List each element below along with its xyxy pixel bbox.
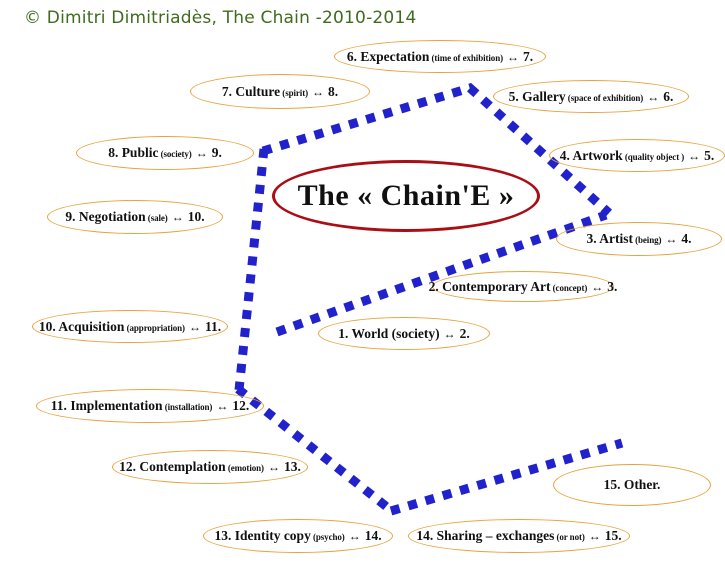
node-name: Artist <box>597 231 633 246</box>
node-name: Contemplation <box>136 459 226 474</box>
node-label: 7. Culture (spirit) ↔ 8. <box>222 85 338 99</box>
node-identity-copy[interactable]: 13. Identity copy (psycho) ↔ 14. <box>203 519 393 553</box>
node-index: 8. <box>108 145 118 160</box>
node-contemplation[interactable]: 12. Contemplation (emotion) ↔ 13. <box>112 450 308 484</box>
node-label: 5. Gallery (space of exhibition) ↔ 6. <box>509 90 674 104</box>
diagram-canvas: © Dimitri Dimitriadès, The Chain -2010-2… <box>0 0 725 576</box>
node-world[interactable]: 1. World (society) ↔ 2. <box>318 317 490 350</box>
node-label: 10. Acquisition (appropriation) ↔ 11. <box>39 320 221 334</box>
node-arrow-icon: ↔ <box>308 85 328 99</box>
node-name: Other. <box>620 477 660 492</box>
node-qualifier: (or not) <box>554 532 584 542</box>
node-gallery[interactable]: 5. Gallery (space of exhibition) ↔ 6. <box>493 80 689 113</box>
node-next-index: 14. <box>365 528 382 543</box>
node-name: Implementation <box>67 398 163 413</box>
node-index: 3. <box>586 231 596 246</box>
node-qualifier: (quality object ) <box>623 152 684 162</box>
node-name: Contemporary Art <box>439 279 551 294</box>
node-index: 12. <box>119 459 136 474</box>
node-next-index: 6. <box>663 89 673 104</box>
node-public[interactable]: 8. Public (society) ↔ 9. <box>76 136 254 170</box>
node-label: 6. Expectation (time of exhibition) ↔ 7. <box>347 50 533 64</box>
node-name: Sharing – exchanges <box>433 528 554 543</box>
node-name: Artwork <box>570 148 623 163</box>
node-arrow-icon: ↔ <box>264 460 284 474</box>
node-index: 13. <box>214 528 231 543</box>
node-label: 8. Public (society) ↔ 9. <box>108 146 222 160</box>
node-name: Acquisition <box>56 319 125 334</box>
node-label: 11. Implementation (installation) ↔ 12. <box>51 399 249 413</box>
node-acquisition[interactable]: 10. Acquisition (appropriation) ↔ 11. <box>32 310 228 343</box>
node-qualifier: (appropriation) <box>124 323 185 333</box>
node-qualifier: (time of exhibition) <box>429 53 503 63</box>
node-qualifier: (being) <box>633 235 661 245</box>
node-index: 1. <box>338 326 348 341</box>
node-arrow-icon: ↔ <box>643 90 663 104</box>
center-chain-ellipse: The « Chain'E » <box>272 160 540 232</box>
node-arrow-icon: ↔ <box>212 399 232 413</box>
node-next-index: 4. <box>681 231 691 246</box>
node-index: 14. <box>416 528 433 543</box>
node-arrow-icon: ↔ <box>440 327 460 341</box>
node-qualifier: (installation) <box>163 402 213 412</box>
node-label: 15. Other. <box>604 478 661 492</box>
node-name: World (society) <box>348 326 439 341</box>
node-qualifier: (society) <box>158 149 191 159</box>
chain-segment-left-edge <box>239 149 264 390</box>
node-arrow-icon: ↔ <box>185 320 205 334</box>
node-next-index: 11. <box>205 319 221 334</box>
node-index: 11. <box>51 398 67 413</box>
node-next-index: 13. <box>284 459 301 474</box>
node-name: Public <box>118 145 158 160</box>
node-name: Identity copy <box>231 528 311 543</box>
node-artist[interactable]: 3. Artist (being) ↔ 4. <box>556 222 722 256</box>
node-label: 4. Artwork (quality object ) ↔ 5. <box>560 149 715 163</box>
node-label: 3. Artist (being) ↔ 4. <box>586 232 691 246</box>
node-label: 14. Sharing – exchanges (or not) ↔ 15. <box>416 529 621 543</box>
node-label: 2. Contemporary Art (concept) ↔ 3. <box>429 280 618 294</box>
node-arrow-icon: ↔ <box>168 210 188 224</box>
node-name: Expectation <box>357 49 429 64</box>
node-next-index: 12. <box>232 398 249 413</box>
node-arrow-icon: ↔ <box>587 280 607 294</box>
node-qualifier: (concept) <box>551 283 588 293</box>
node-next-index: 10. <box>188 209 205 224</box>
node-next-index: 9. <box>212 145 222 160</box>
node-arrow-icon: ↔ <box>345 529 365 543</box>
node-sharing-exchanges[interactable]: 14. Sharing – exchanges (or not) ↔ 15. <box>408 519 630 553</box>
node-qualifier: (spirit) <box>280 88 308 98</box>
node-name: Culture <box>232 84 280 99</box>
node-label: 12. Contemplation (emotion) ↔ 13. <box>119 460 301 474</box>
node-index: 7. <box>222 84 232 99</box>
node-name: Gallery <box>519 89 566 104</box>
node-arrow-icon: ↔ <box>585 529 605 543</box>
node-artwork[interactable]: 4. Artwork (quality object ) ↔ 5. <box>549 139 725 172</box>
node-qualifier: (psycho) <box>311 532 345 542</box>
node-arrow-icon: ↔ <box>192 146 212 160</box>
node-index: 6. <box>347 49 357 64</box>
node-index: 15. <box>604 477 621 492</box>
node-culture[interactable]: 7. Culture (spirit) ↔ 8. <box>190 74 370 109</box>
node-next-index: 7. <box>523 49 533 64</box>
node-qualifier: (space of exhibition) <box>566 93 644 103</box>
node-arrow-icon: ↔ <box>684 149 704 163</box>
node-negotiation[interactable]: 9. Negotiation (sale) ↔ 10. <box>47 200 223 234</box>
center-chain-label: The « Chain'E » <box>298 179 515 213</box>
node-qualifier: (emotion) <box>226 463 264 473</box>
node-implementation[interactable]: 11. Implementation (installation) ↔ 12. <box>36 389 264 423</box>
node-contemporary-art[interactable]: 2. Contemporary Art (concept) ↔ 3. <box>432 271 614 302</box>
node-index: 10. <box>39 319 56 334</box>
node-index: 5. <box>509 89 519 104</box>
node-index: 9. <box>65 209 75 224</box>
node-label: 9. Negotiation (sale) ↔ 10. <box>65 210 204 224</box>
node-next-index: 2. <box>460 326 470 341</box>
node-next-index: 8. <box>328 84 338 99</box>
node-name: Negotiation <box>76 209 146 224</box>
node-arrow-icon: ↔ <box>503 50 523 64</box>
node-label: 1. World (society) ↔ 2. <box>338 327 470 341</box>
node-qualifier: (sale) <box>146 213 168 223</box>
node-next-index: 5. <box>704 148 714 163</box>
node-other[interactable]: 15. Other. <box>553 464 711 506</box>
node-next-index: 3. <box>607 279 617 294</box>
node-next-index: 15. <box>605 528 622 543</box>
node-expectation[interactable]: 6. Expectation (time of exhibition) ↔ 7. <box>334 40 546 73</box>
node-label: 13. Identity copy (psycho) ↔ 14. <box>214 529 381 543</box>
node-arrow-icon: ↔ <box>661 232 681 246</box>
node-index: 2. <box>429 279 439 294</box>
node-index: 4. <box>560 148 570 163</box>
